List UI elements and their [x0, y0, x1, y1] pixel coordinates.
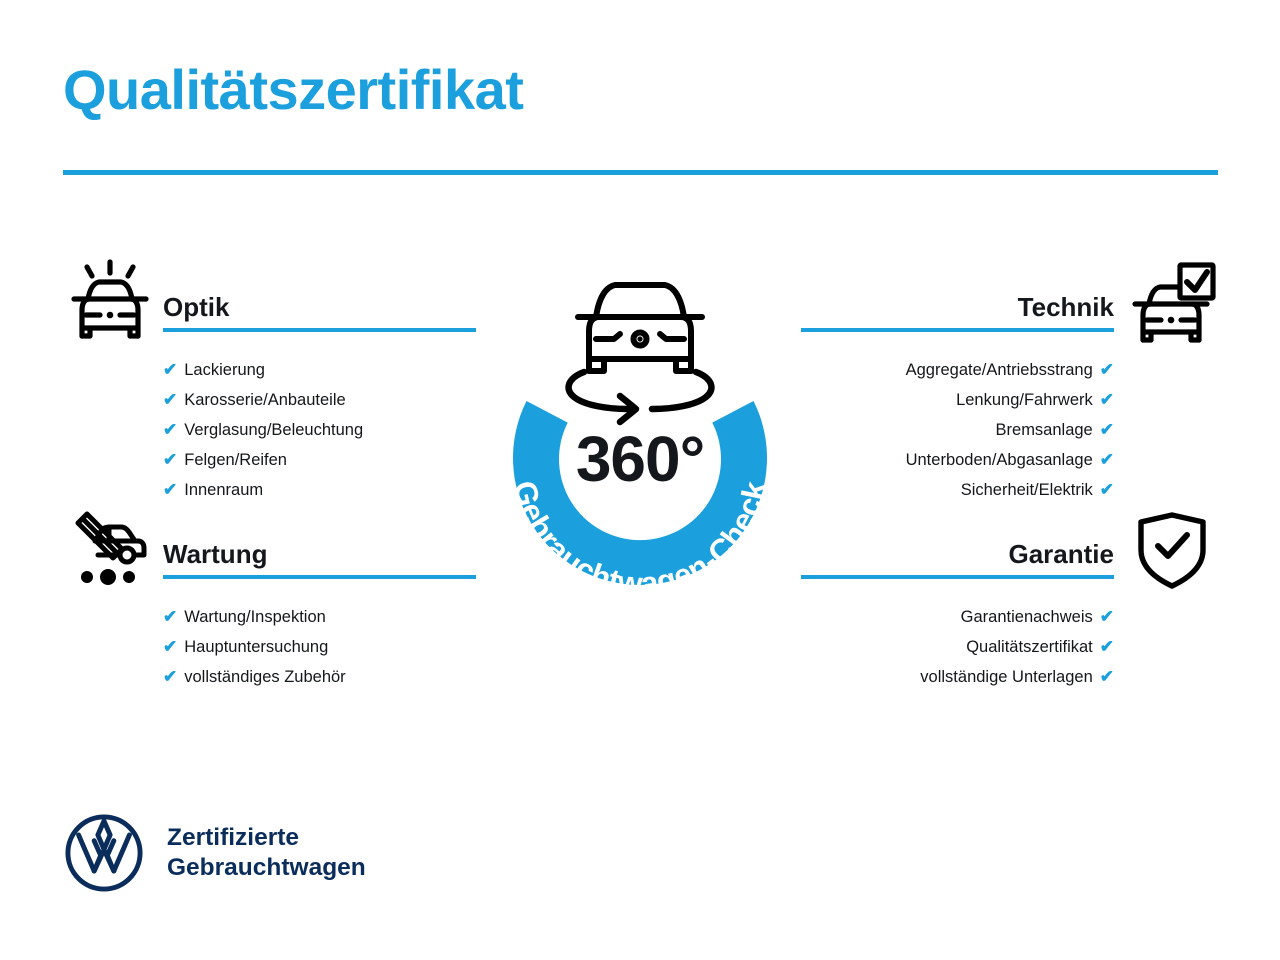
list-item-label: Garantienachweis: [961, 602, 1093, 632]
check-icon: ✔: [163, 602, 177, 632]
footer-line-1: Zertifizierte: [167, 823, 366, 853]
section-title: Technik: [801, 294, 1114, 321]
list-item: ✔Lackierung: [163, 355, 476, 385]
list-item: ✔Karosserie/Anbauteile: [163, 385, 476, 415]
list-item: ✔Hauptuntersuchung: [163, 632, 476, 662]
check-icon: ✔: [1100, 602, 1114, 632]
list-item-label: Lenkung/Fahrwerk: [956, 385, 1093, 415]
footer-label: Zertifizierte Gebrauchtwagen: [167, 823, 366, 883]
list-item-label: vollständiges Zubehör: [184, 662, 345, 692]
check-icon: ✔: [1100, 385, 1114, 415]
check-icon: ✔: [163, 662, 177, 692]
list-item-label: Sicherheit/Elektrik: [961, 475, 1093, 505]
check-icon: ✔: [163, 475, 177, 505]
section-title: Wartung: [163, 541, 476, 568]
shield-check-icon: [1127, 505, 1217, 595]
list-item: Garantienachweis✔: [801, 602, 1114, 632]
section-underline: [163, 328, 476, 332]
list-item-label: Innenraum: [184, 475, 263, 505]
quality-certificate-page: Qualitätszertifikat: [0, 0, 1280, 960]
check-icon: ✔: [163, 415, 177, 445]
header-divider: [63, 170, 1218, 175]
checklist-wartung: ✔Wartung/Inspektion ✔Hauptuntersuchung ✔…: [163, 602, 476, 692]
check-icon: ✔: [163, 632, 177, 662]
car-checkbox-icon: [1127, 258, 1217, 348]
check-icon: ✔: [163, 355, 177, 385]
checklist-garantie: Garantienachweis✔ Qualitätszertifikat✔ v…: [801, 602, 1114, 692]
list-item: Aggregate/Antriebsstrang✔: [801, 355, 1114, 385]
check-icon: ✔: [1100, 355, 1114, 385]
list-item-label: Verglasung/Beleuchtung: [184, 415, 363, 445]
list-item-label: Qualitätszertifikat: [966, 632, 1093, 662]
list-item: Qualitätszertifikat✔: [801, 632, 1114, 662]
section-header-wartung: Wartung: [163, 541, 476, 579]
check-icon: ✔: [1100, 415, 1114, 445]
list-item-label: vollständige Unterlagen: [920, 662, 1092, 692]
list-item: ✔Felgen/Reifen: [163, 445, 476, 475]
check-icon: ✔: [1100, 475, 1114, 505]
vw-logo: [63, 812, 145, 894]
section-title: Optik: [163, 294, 476, 321]
pencil-car-service-icon: [65, 505, 155, 595]
page-title: Qualitätszertifikat: [63, 58, 523, 122]
list-item: Lenkung/Fahrwerk✔: [801, 385, 1114, 415]
list-item: vollständige Unterlagen✔: [801, 662, 1114, 692]
list-item: Bremsanlage✔: [801, 415, 1114, 445]
badge-center-text: 360°: [455, 427, 825, 491]
check-icon: ✔: [1100, 662, 1114, 692]
section-title: Garantie: [801, 541, 1114, 568]
list-item-label: Felgen/Reifen: [184, 445, 287, 475]
list-item-label: Unterboden/Abgasanlage: [906, 445, 1093, 475]
360-check-badge: Gebrauchtwagen-Check: [455, 245, 825, 625]
list-item-label: Karosserie/Anbauteile: [184, 385, 345, 415]
section-header-technik: Technik: [801, 294, 1114, 332]
check-icon: ✔: [1100, 632, 1114, 662]
list-item-label: Wartung/Inspektion: [184, 602, 326, 632]
section-underline: [801, 328, 1114, 332]
checklist-optik: ✔Lackierung ✔Karosserie/Anbauteile ✔Verg…: [163, 355, 476, 505]
list-item-label: Lackierung: [184, 355, 265, 385]
list-item: ✔vollständiges Zubehör: [163, 662, 476, 692]
section-header-optik: Optik: [163, 294, 476, 332]
section-underline: [163, 575, 476, 579]
checklist-technik: Aggregate/Antriebsstrang✔ Lenkung/Fahrwe…: [801, 355, 1114, 505]
list-item-label: Hauptuntersuchung: [184, 632, 328, 662]
list-item: Sicherheit/Elektrik✔: [801, 475, 1114, 505]
check-icon: ✔: [163, 445, 177, 475]
car-front-rotate-icon: [569, 285, 712, 422]
footer-line-2: Gebrauchtwagen: [167, 853, 366, 883]
footer-brand: Zertifizierte Gebrauchtwagen: [63, 812, 366, 894]
car-front-lights-icon: [65, 258, 155, 348]
list-item: ✔Innenraum: [163, 475, 476, 505]
check-icon: ✔: [1100, 445, 1114, 475]
list-item: ✔Verglasung/Beleuchtung: [163, 415, 476, 445]
list-item-label: Bremsanlage: [996, 415, 1093, 445]
check-icon: ✔: [163, 385, 177, 415]
section-header-garantie: Garantie: [801, 541, 1114, 579]
list-item-label: Aggregate/Antriebsstrang: [906, 355, 1093, 385]
section-underline: [801, 575, 1114, 579]
list-item: ✔Wartung/Inspektion: [163, 602, 476, 632]
list-item: Unterboden/Abgasanlage✔: [801, 445, 1114, 475]
